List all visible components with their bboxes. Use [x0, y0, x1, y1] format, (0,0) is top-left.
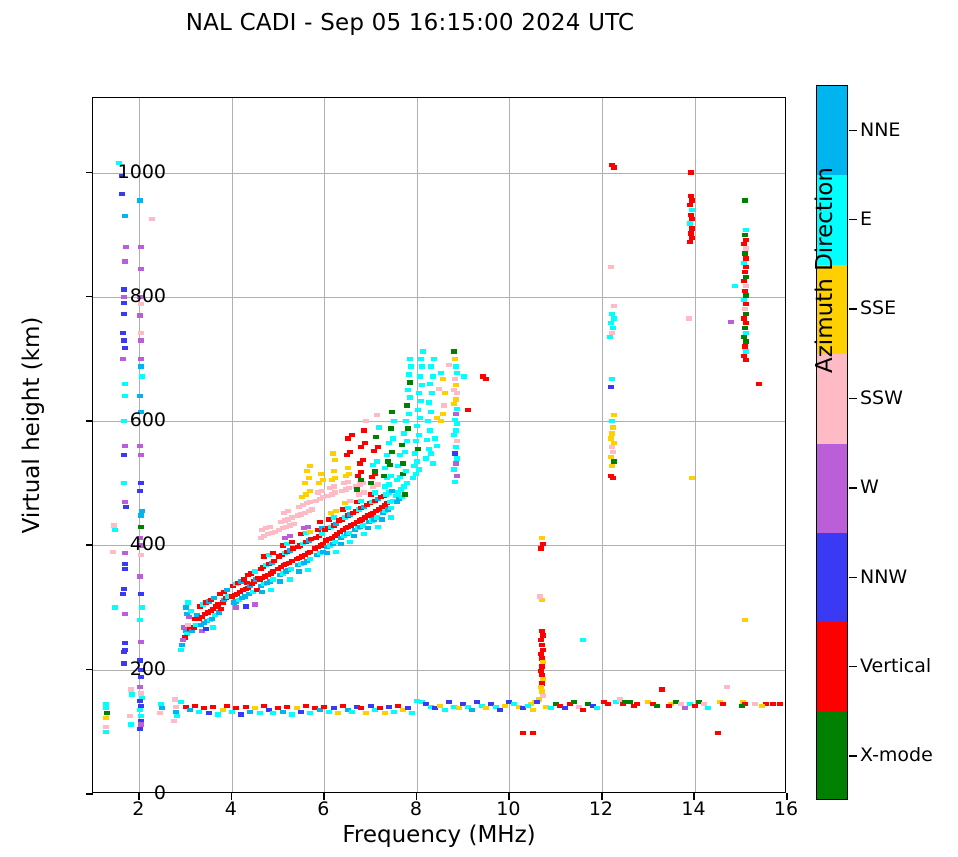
echo-point — [305, 568, 311, 572]
echo-point — [103, 725, 109, 729]
echo-point — [137, 708, 143, 712]
y-tick-mark — [86, 172, 93, 174]
colorbar-tick-mark — [849, 487, 857, 488]
echo-point — [379, 517, 385, 521]
echo-point — [243, 705, 249, 709]
echo-point — [333, 550, 339, 554]
echo-point — [580, 638, 586, 642]
echo-point — [386, 482, 392, 486]
echo-point — [296, 569, 302, 573]
echo-point — [451, 349, 457, 353]
colorbar-title: Azimuth Direction — [812, 120, 838, 420]
echo-point — [432, 436, 438, 440]
echo-point — [210, 705, 216, 709]
colorbar-label-nnw: NNW — [860, 566, 907, 588]
echo-point — [374, 413, 380, 417]
echo-point — [346, 486, 352, 490]
echo-point — [377, 706, 383, 710]
echo-point — [609, 445, 615, 449]
echo-point — [434, 444, 440, 448]
echo-point — [128, 722, 134, 726]
echo-point — [419, 364, 425, 368]
echo-point — [138, 453, 144, 457]
echo-point — [715, 731, 721, 735]
echo-point — [319, 489, 325, 493]
echo-point — [138, 513, 144, 517]
echo-point — [611, 304, 617, 308]
echo-point — [469, 708, 475, 712]
echo-point — [743, 284, 749, 288]
echo-point — [452, 357, 458, 361]
echo-point — [288, 567, 294, 571]
echo-point — [365, 526, 371, 530]
echo-point — [687, 203, 693, 207]
echo-point — [179, 643, 185, 647]
echo-point — [770, 702, 776, 706]
y-tick-label: 200 — [46, 658, 166, 680]
x-axis-label: Frequency (MHz) — [92, 822, 786, 848]
echo-point — [742, 233, 748, 237]
echo-point — [317, 520, 323, 524]
echo-point — [611, 165, 617, 169]
colorbar-tick-mark — [849, 666, 857, 667]
echo-point — [436, 387, 442, 391]
echo-point — [539, 643, 545, 647]
echo-point — [452, 451, 458, 455]
echo-point — [402, 492, 408, 496]
echo-point — [304, 469, 310, 473]
echo-point — [428, 364, 434, 368]
echo-point — [122, 259, 128, 263]
echo-point — [120, 357, 126, 361]
echo-point — [465, 408, 471, 412]
colorbar-tick-mark — [849, 308, 857, 309]
echo-point — [345, 466, 351, 470]
echo-point — [417, 416, 423, 420]
colorbar-label-e: E — [860, 208, 872, 230]
echo-point — [453, 383, 459, 387]
gridline-horizontal — [93, 297, 785, 298]
echo-point — [415, 408, 421, 412]
echo-point — [201, 706, 207, 710]
echo-point — [127, 714, 133, 718]
echo-point — [121, 650, 127, 654]
echo-point — [538, 638, 544, 642]
echo-point — [388, 426, 394, 430]
echo-point — [686, 316, 692, 320]
echo-point — [689, 476, 695, 480]
echo-point — [391, 419, 397, 423]
colorbar-label-sse: SSE — [860, 297, 896, 319]
y-tick-label: 1000 — [46, 161, 166, 183]
echo-point — [430, 461, 436, 465]
echo-point — [405, 388, 411, 392]
echo-point — [121, 587, 127, 591]
x-tick-mark — [508, 793, 510, 800]
echo-point — [537, 594, 543, 598]
echo-point — [307, 711, 313, 715]
echo-point — [743, 358, 749, 362]
data-canvas — [93, 98, 785, 792]
echo-point — [302, 481, 308, 485]
echo-point — [362, 441, 368, 445]
echo-point — [682, 706, 688, 710]
echo-point — [287, 534, 293, 538]
colorbar-segment-vertical — [817, 622, 847, 711]
echo-point — [520, 731, 526, 735]
echo-point — [137, 489, 143, 493]
echo-point — [373, 435, 379, 439]
echo-point — [420, 349, 426, 353]
echo-point — [452, 377, 458, 381]
echo-point — [417, 374, 423, 378]
echo-point — [121, 312, 127, 316]
echo-point — [609, 377, 615, 381]
colorbar-tick-mark — [849, 130, 857, 131]
echo-point — [220, 708, 226, 712]
echo-point — [386, 705, 392, 709]
echo-point — [112, 528, 118, 532]
echo-point — [381, 474, 387, 478]
echo-point — [122, 394, 128, 398]
echo-point — [159, 706, 165, 710]
echo-point — [257, 711, 263, 715]
echo-point — [724, 685, 730, 689]
echo-point — [688, 170, 694, 174]
echo-point — [332, 458, 338, 462]
echo-point — [171, 719, 177, 723]
echo-point — [594, 706, 600, 710]
echo-point — [345, 436, 351, 440]
gridline-vertical — [602, 98, 603, 792]
x-tick-mark — [601, 793, 603, 800]
echo-point — [401, 431, 407, 435]
echo-point — [404, 481, 410, 485]
echo-point — [411, 464, 417, 468]
echo-point — [137, 574, 143, 578]
echo-point — [424, 438, 430, 442]
gridline-vertical — [509, 98, 510, 792]
echo-point — [743, 321, 749, 325]
colorbar-label-ssw: SSW — [860, 387, 903, 409]
echo-point — [452, 480, 458, 484]
x-tick-mark — [416, 793, 418, 800]
echo-point — [427, 428, 433, 432]
echo-point — [441, 403, 447, 407]
echo-point — [453, 412, 459, 416]
echo-point — [402, 450, 408, 454]
echo-point — [138, 364, 144, 368]
echo-point — [430, 374, 436, 378]
echo-point — [742, 198, 748, 202]
echo-point — [454, 422, 460, 426]
echo-point — [759, 704, 765, 708]
echo-point — [307, 489, 313, 493]
echo-point — [139, 374, 145, 378]
ionogram-figure: NAL CADI - Sep 05 16:15:00 2024 UTC 0200… — [0, 0, 958, 857]
echo-point — [739, 704, 745, 708]
echo-point — [743, 302, 749, 306]
colorbar-segment-x-mode — [817, 712, 847, 800]
gridline-vertical — [232, 98, 233, 792]
echo-point — [360, 458, 366, 462]
echo-point — [530, 708, 536, 712]
echo-point — [654, 704, 660, 708]
echo-point — [112, 605, 118, 609]
echo-point — [103, 716, 109, 720]
x-tick-label: 12 — [561, 798, 641, 820]
echo-point — [178, 648, 184, 652]
colorbar-tick-mark — [849, 755, 857, 756]
echo-point — [609, 464, 615, 468]
echo-point — [347, 540, 353, 544]
echo-point — [453, 445, 459, 449]
echo-point — [351, 534, 357, 538]
echo-point — [271, 559, 277, 563]
echo-point — [538, 546, 544, 550]
echo-point — [406, 412, 412, 416]
echo-point — [291, 522, 297, 526]
echo-point — [361, 428, 367, 432]
echo-point — [406, 372, 412, 376]
echo-point — [446, 363, 452, 367]
echo-point — [376, 425, 382, 429]
echo-point — [418, 399, 424, 403]
echo-point — [363, 711, 369, 715]
echo-point — [280, 710, 286, 714]
echo-point — [305, 525, 311, 529]
colorbar-tick-mark — [849, 398, 857, 399]
echo-point — [307, 464, 313, 468]
echo-point — [307, 557, 313, 561]
echo-point — [137, 313, 143, 317]
echo-point — [120, 592, 126, 596]
echo-point — [331, 706, 337, 710]
echo-point — [742, 289, 748, 293]
echo-point — [405, 426, 411, 430]
y-tick-label: 800 — [46, 285, 166, 307]
echo-point — [440, 377, 446, 381]
echo-point — [451, 433, 457, 437]
echo-point — [210, 625, 216, 629]
echo-point — [138, 481, 144, 485]
echo-point — [413, 439, 419, 443]
echo-point — [375, 445, 381, 449]
y-tick-mark — [86, 669, 93, 671]
echo-point — [123, 245, 129, 249]
echo-point — [284, 705, 290, 709]
echo-point — [405, 706, 411, 710]
echo-point — [138, 338, 144, 342]
gridline-vertical — [324, 98, 325, 792]
plot-area — [92, 97, 786, 793]
y-tick-mark — [86, 420, 93, 422]
echo-point — [137, 685, 143, 689]
echo-point — [122, 612, 128, 616]
echo-point — [403, 419, 409, 423]
echo-point — [224, 704, 230, 708]
echo-point — [407, 357, 413, 361]
echo-point — [388, 515, 394, 519]
echo-point — [752, 702, 758, 706]
echo-point — [332, 476, 338, 480]
y-axis-label: Virtual height (km) — [19, 205, 45, 645]
echo-point — [743, 339, 749, 343]
echo-point — [173, 705, 179, 709]
echo-point — [742, 307, 748, 311]
echo-point — [389, 489, 395, 493]
colorbar-label-w: W — [860, 476, 879, 498]
echo-point — [324, 551, 330, 555]
echo-point — [743, 228, 749, 232]
echo-point — [138, 640, 144, 644]
echo-point — [428, 451, 434, 455]
echo-point — [530, 731, 536, 735]
echo-point — [742, 618, 748, 622]
y-tick-mark — [86, 544, 93, 546]
x-tick-mark — [786, 793, 788, 800]
echo-point — [434, 416, 440, 420]
echo-point — [268, 588, 274, 592]
echo-point — [287, 577, 293, 581]
echo-point — [413, 472, 419, 476]
echo-point — [277, 579, 283, 583]
echo-point — [330, 451, 336, 455]
echo-point — [138, 331, 144, 335]
echo-point — [431, 357, 437, 361]
echo-point — [454, 439, 460, 443]
echo-point — [548, 706, 554, 710]
echo-point — [415, 447, 421, 451]
echo-point — [426, 400, 432, 404]
page-title: NAL CADI - Sep 05 16:15:00 2024 UTC — [0, 10, 820, 36]
echo-point — [361, 532, 367, 536]
echo-point — [705, 706, 711, 710]
echo-point — [391, 710, 397, 714]
echo-point — [306, 476, 312, 480]
echo-point — [385, 459, 391, 463]
echo-point — [404, 403, 410, 407]
echo-point — [358, 470, 364, 474]
echo-point — [451, 467, 457, 471]
echo-point — [372, 469, 378, 473]
gridline-horizontal — [93, 173, 785, 174]
echo-point — [390, 436, 396, 440]
echo-point — [333, 509, 339, 513]
echo-point — [414, 459, 420, 463]
echo-point — [375, 482, 381, 486]
gridline-horizontal — [93, 670, 785, 671]
echo-point — [137, 699, 143, 703]
echo-point — [580, 708, 586, 712]
echo-point — [122, 567, 128, 571]
echo-point — [454, 407, 460, 411]
echo-point — [609, 431, 615, 435]
x-tick-label: 2 — [98, 798, 178, 820]
echo-point — [319, 532, 325, 536]
echo-point — [363, 419, 369, 423]
echo-point — [418, 357, 424, 361]
echo-point — [121, 338, 127, 342]
x-tick-label: 10 — [468, 798, 548, 820]
echo-point — [216, 610, 222, 614]
echo-point — [687, 240, 693, 244]
echo-point — [139, 605, 145, 609]
echo-point — [454, 371, 460, 375]
echo-point — [756, 382, 762, 386]
echo-point — [233, 605, 239, 609]
echo-point — [122, 214, 128, 218]
x-tick-label: 4 — [191, 798, 271, 820]
echo-point — [138, 357, 144, 361]
echo-point — [122, 444, 128, 448]
echo-point — [742, 344, 748, 348]
echo-point — [354, 487, 360, 491]
echo-point — [243, 604, 249, 608]
echo-point — [720, 702, 726, 706]
echo-point — [137, 394, 143, 398]
colorbar-tick-mark — [849, 577, 857, 578]
echo-point — [361, 490, 367, 494]
colorbar-segment-w — [817, 444, 847, 533]
echo-point — [609, 419, 615, 423]
echo-point — [442, 708, 448, 712]
echo-point — [659, 687, 665, 691]
echo-point — [388, 506, 394, 510]
y-tick-mark — [86, 296, 93, 298]
echo-point — [331, 469, 337, 473]
y-tick-label: 400 — [46, 533, 166, 555]
echo-point — [607, 335, 613, 339]
echo-point — [119, 192, 125, 196]
colorbar-label-vertical: Vertical — [860, 655, 931, 677]
echo-point — [440, 412, 446, 416]
echo-point — [270, 577, 276, 581]
echo-point — [215, 712, 221, 716]
echo-point — [539, 536, 545, 540]
echo-point — [289, 712, 295, 716]
echo-point — [128, 687, 134, 691]
echo-point — [185, 600, 191, 604]
echo-point — [120, 331, 126, 335]
colorbar-label-x-mode: X-mode — [860, 744, 933, 766]
echo-point — [483, 377, 489, 381]
echo-point — [454, 474, 460, 478]
echo-point — [252, 706, 258, 710]
echo-point — [103, 730, 109, 734]
x-tick-mark — [693, 793, 695, 800]
echo-point — [446, 700, 452, 704]
echo-point — [332, 490, 338, 494]
echo-point — [349, 710, 355, 714]
echo-point — [138, 245, 144, 249]
echo-point — [689, 208, 695, 212]
echo-point — [610, 476, 616, 480]
echo-point — [318, 472, 324, 476]
echo-point — [414, 424, 420, 428]
echo-point — [608, 321, 614, 325]
echo-point — [610, 425, 616, 429]
echo-point — [571, 700, 577, 704]
echo-point — [122, 500, 128, 504]
echo-point — [428, 410, 434, 414]
echo-point — [562, 706, 568, 710]
echo-point — [442, 391, 448, 395]
echo-point — [187, 708, 193, 712]
echo-point — [103, 706, 109, 710]
echo-point — [408, 364, 414, 368]
x-tick-mark — [231, 793, 233, 800]
